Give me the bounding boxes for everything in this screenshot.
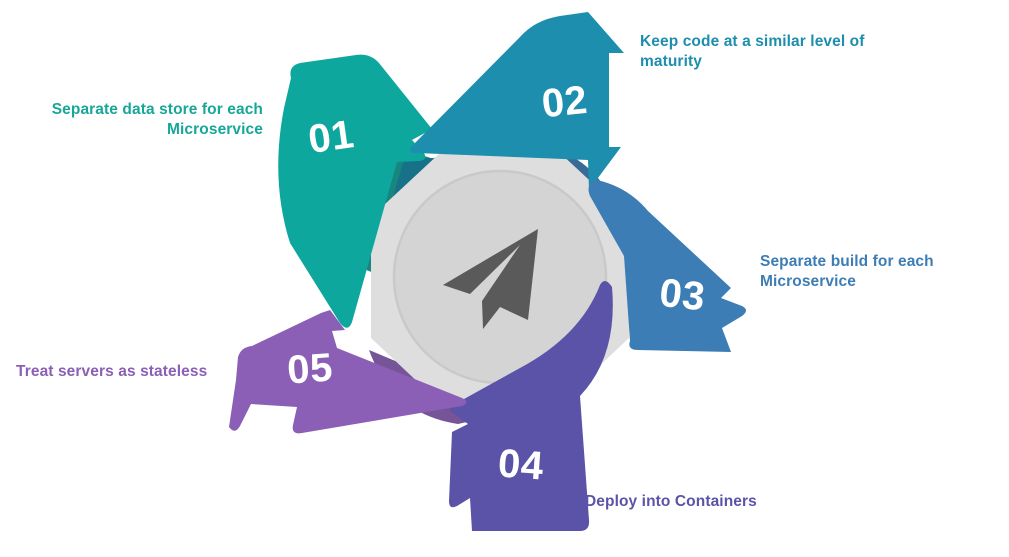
- step-label-02: Keep code at a similar level of maturity: [640, 32, 890, 73]
- step-label-04: Deploy into Containers: [585, 492, 825, 512]
- arrow-number-01: 01: [306, 112, 357, 162]
- step-label-01: Separate data store for each Microservic…: [28, 100, 263, 141]
- arrow-number-05: 05: [286, 345, 334, 392]
- infographic-canvas: 01 02 03 04 05 Separate data store for e…: [0, 0, 1009, 557]
- arrow-number-04: 04: [497, 441, 546, 488]
- step-label-05: Treat servers as stateless: [16, 362, 241, 382]
- arrow-number-02: 02: [540, 78, 590, 127]
- arrow-number-03: 03: [657, 271, 707, 320]
- step-label-03: Separate build for each Microservice: [760, 252, 1000, 293]
